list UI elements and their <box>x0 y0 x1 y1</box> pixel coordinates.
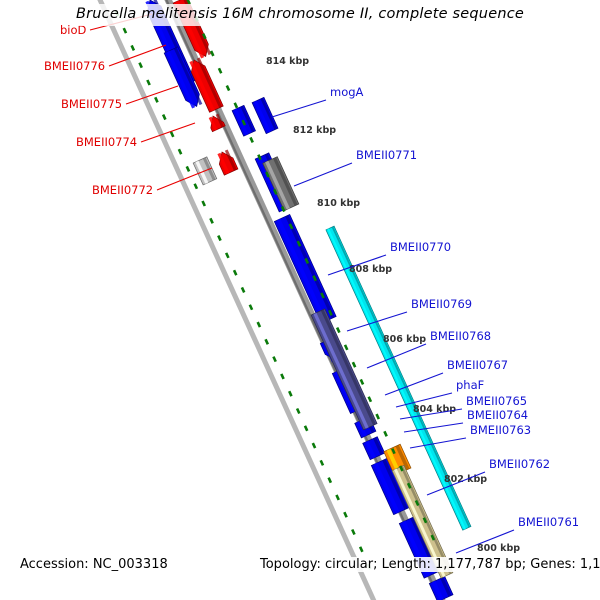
gene-label[interactable]: BMEII0775 <box>61 86 178 111</box>
ruler-tick-label: 814 kbp <box>266 56 309 67</box>
ruler-tick-label: 812 kbp <box>293 125 336 136</box>
gene-label-text: BMEII0764 <box>467 408 528 422</box>
gene-label-text: BMEII0776 <box>44 59 105 73</box>
ruler-tick-label: 800 kbp <box>477 543 520 554</box>
ruler-tick-label: 806 kbp <box>383 334 426 345</box>
gene-label-text: BMEII0769 <box>411 297 472 311</box>
gene-label-text: BMEII0771 <box>356 148 417 162</box>
gene-label-text: mogA <box>330 85 364 99</box>
gene-label-text: BMEII0772 <box>92 183 153 197</box>
gene-label-text: BMEII0770 <box>390 240 451 254</box>
genome-map-canvas[interactable]: 814 kbp812 kbp810 kbp808 kbp806 kbp804 k… <box>0 0 600 600</box>
gene-feature[interactable] <box>311 309 377 430</box>
ruler-tick-label: 810 kbp <box>317 198 360 209</box>
gene-label-text: BMEII0762 <box>489 457 550 471</box>
page-title: Brucella melitensis 16M chromosome II, c… <box>0 6 600 22</box>
gene-label[interactable]: BMEII0772 <box>92 168 212 197</box>
gene-label-text: phaF <box>456 378 484 392</box>
gene-label-text: BMEII0765 <box>466 394 527 408</box>
accession-label: Accession: NC_003318 <box>18 557 170 572</box>
gene-label-text: BMEII0763 <box>470 423 531 437</box>
gene-label-text: BMEII0775 <box>61 97 122 111</box>
gene-label-text: BMEII0768 <box>430 329 491 343</box>
gene-feature[interactable] <box>252 97 278 133</box>
gene-label-text: BMEII0767 <box>447 358 508 372</box>
gene-label[interactable]: BMEII0771 <box>294 148 417 186</box>
status-bar: Accession: NC_003318 Topology: circular;… <box>0 568 600 586</box>
gene-label[interactable]: BMEII0774 <box>76 123 195 149</box>
gene-label[interactable]: mogA <box>272 85 364 117</box>
genome-map-view[interactable]: 814 kbp812 kbp810 kbp808 kbp806 kbp804 k… <box>0 0 600 600</box>
gene-label-text: BMEII0774 <box>76 135 137 149</box>
gene-label[interactable]: BMEII0776 <box>44 45 166 73</box>
topology-label: Topology: circular; Length: 1,177,787 bp… <box>258 557 600 572</box>
gene-label-text: BMEII0761 <box>518 515 579 529</box>
